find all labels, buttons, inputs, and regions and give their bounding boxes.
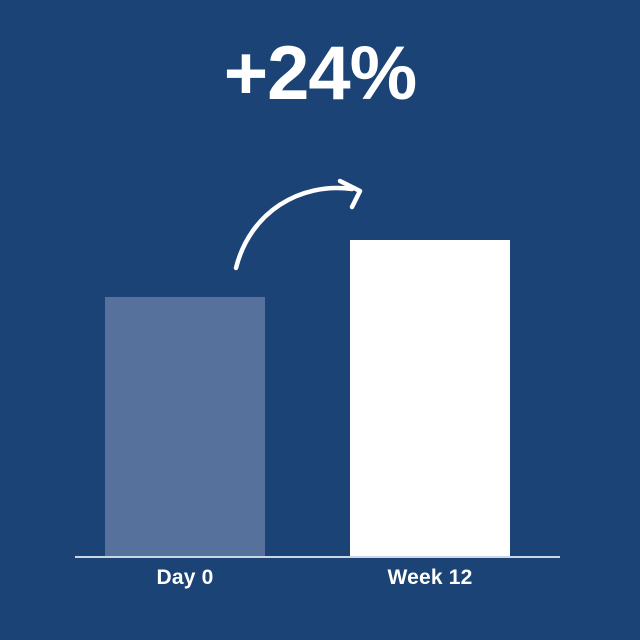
chart-plot-area	[0, 0, 640, 640]
chart-baseline	[75, 556, 560, 558]
x-axis-label-day-0: Day 0	[75, 566, 295, 590]
bar-day-0	[105, 297, 265, 557]
x-axis-label-week-12: Week 12	[320, 566, 540, 590]
bar-week-12	[350, 240, 510, 557]
growth-infographic: +24% Day 0 Week 12	[0, 0, 640, 640]
